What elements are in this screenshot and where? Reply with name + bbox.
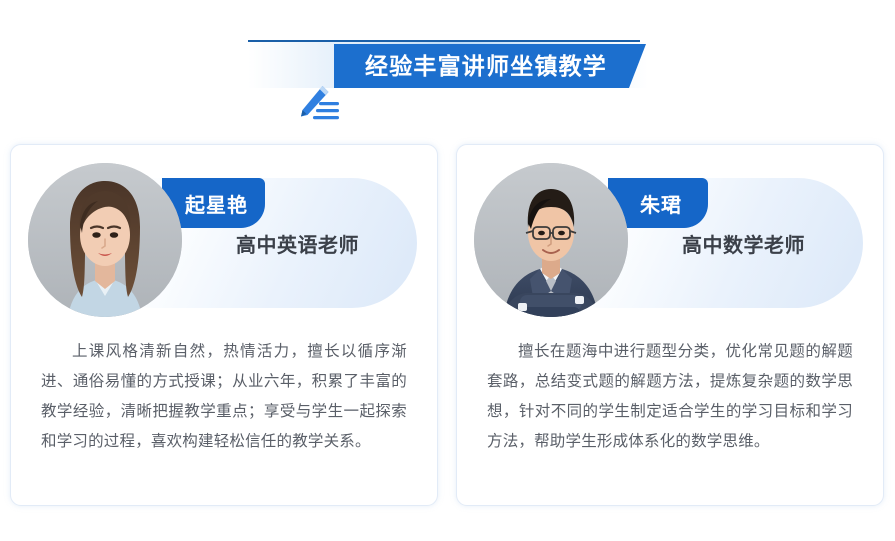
teacher-card-list: 高中英语老师 起星艳 bbox=[10, 144, 885, 506]
teacher-bio: 擅长在题海中进行题型分类，优化常见题的解题套路，总结变式题的解题方法，提炼复杂题… bbox=[487, 337, 853, 457]
avatar bbox=[474, 163, 628, 317]
teacher-name: 起星艳 bbox=[185, 189, 248, 218]
teacher-bio-block: 擅长在题海中进行题型分类，优化常见题的解题套路，总结变式题的解题方法，提炼复杂题… bbox=[457, 337, 883, 457]
banner-top-rule bbox=[248, 40, 640, 42]
teacher-card[interactable]: 高中英语老师 起星艳 bbox=[10, 144, 438, 506]
section-header-banner: 经验丰富讲师坐镇教学 bbox=[0, 40, 895, 96]
avatar bbox=[28, 163, 182, 317]
teacher-bio-block: 上课风格清新自然，热情活力，擅长以循序渐进、通俗易懂的方式授课；从业六年，积累了… bbox=[11, 337, 437, 457]
teacher-card-header: 高中英语老师 起星艳 bbox=[11, 159, 437, 331]
teacher-subject-title: 高中英语老师 bbox=[236, 229, 417, 258]
banner-plate: 经验丰富讲师坐镇教学 bbox=[334, 44, 646, 88]
banner-title: 经验丰富讲师坐镇教学 bbox=[365, 55, 615, 78]
pencil-icon bbox=[292, 84, 348, 128]
teacher-card[interactable]: 高中数学老师 朱珺 bbox=[456, 144, 884, 506]
teacher-name: 朱珺 bbox=[640, 189, 682, 218]
teacher-bio: 上课风格清新自然，热情活力，擅长以循序渐进、通俗易懂的方式授课；从业六年，积累了… bbox=[41, 337, 407, 457]
teacher-subject-title: 高中数学老师 bbox=[682, 229, 863, 258]
teacher-card-header: 高中数学老师 朱珺 bbox=[457, 159, 883, 331]
